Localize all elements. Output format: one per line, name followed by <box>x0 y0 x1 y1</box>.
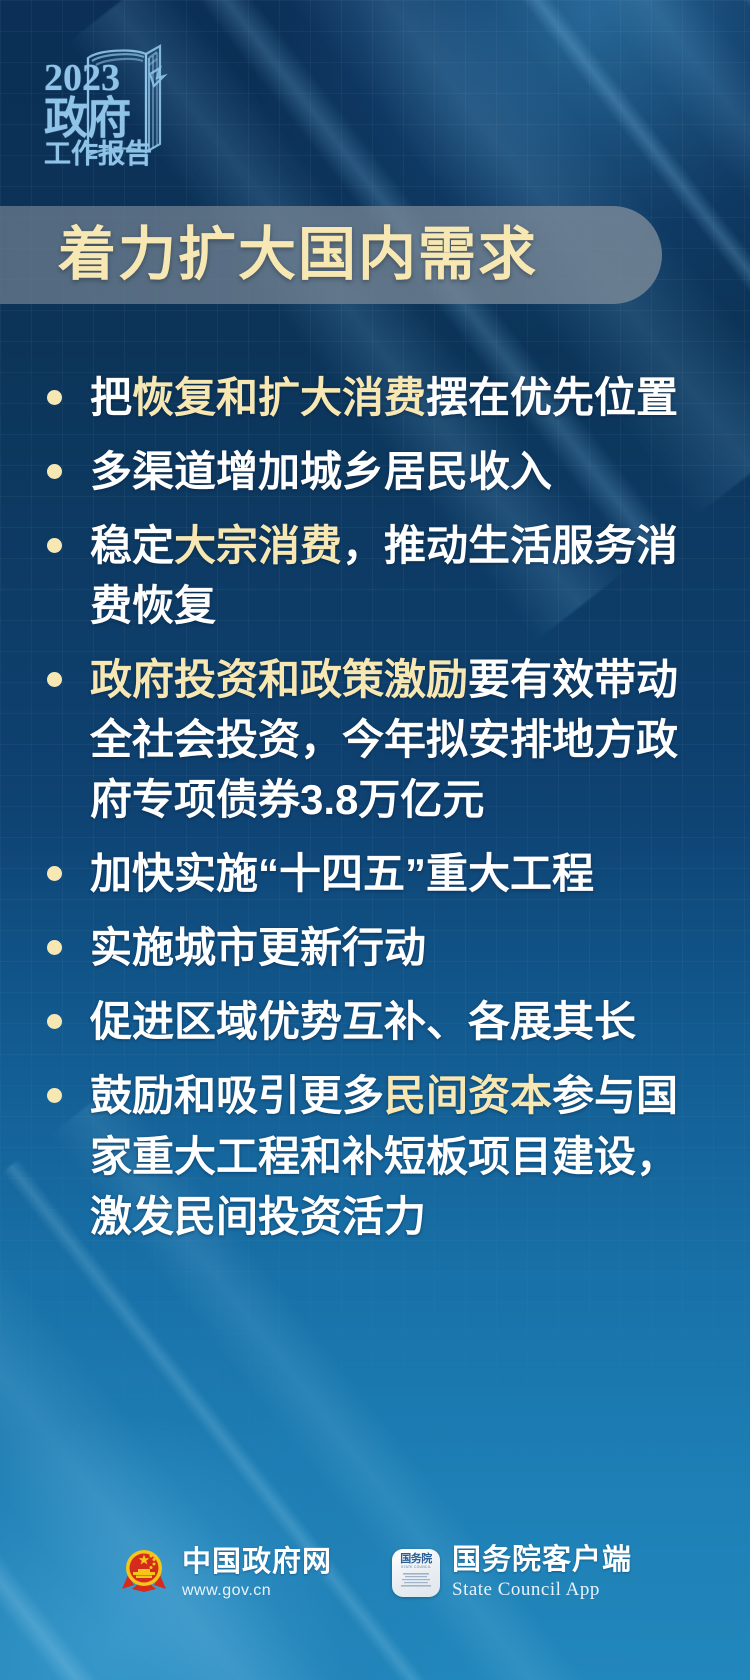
list-item: 加快实施“十四五”重大工程 <box>36 844 696 904</box>
plain-phrase: 加快实施“十四五”重大工程 <box>90 850 594 897</box>
plain-phrase: 鼓励和吸引更多 <box>90 1072 384 1119</box>
bullet-dot-icon <box>47 866 62 881</box>
app-icon-label-en: STATE COUNCIL <box>401 1566 431 1570</box>
list-item-text: 鼓励和吸引更多民间资本参与国家重大工程和补短板项目建设，激发民间投资活力 <box>90 1072 678 1239</box>
page-title: 着力扩大国内需求 <box>58 226 538 284</box>
highlighted-phrase: 政府投资和政策激励 <box>90 656 468 703</box>
footer-brands: 中国政府网 www.gov.cn 国务院 STATE COUNCIL <box>0 1545 750 1602</box>
list-item-text: 稳定大宗消费，推动生活服务消费恢复 <box>90 522 678 629</box>
state-council-app-english: State Council App <box>452 1579 632 1602</box>
list-item: 实施城市更新行动 <box>36 918 696 978</box>
bullet-dot-icon <box>47 940 62 955</box>
title-banner: 着力扩大国内需求 <box>0 206 662 304</box>
gate-icon <box>399 1572 433 1593</box>
national-emblem-icon <box>118 1545 170 1602</box>
list-item: 把恢复和扩大消费摆在优先位置 <box>36 368 696 428</box>
list-item-text: 加快实施“十四五”重大工程 <box>90 850 594 897</box>
highlighted-phrase: 民间资本 <box>384 1072 552 1119</box>
list-item: 多渠道增加城乡居民收入 <box>36 442 696 502</box>
bullet-dot-icon <box>47 1014 62 1029</box>
logo-title-line2: 工作报告 <box>44 142 152 168</box>
highlighted-phrase: 大宗消费 <box>174 522 342 569</box>
list-item: 政府投资和政策激励要有效带动全社会投资，今年拟安排地方政府专项债券3.8万亿元 <box>36 650 696 830</box>
plain-phrase: 稳定 <box>90 522 174 569</box>
bullet-dot-icon <box>47 390 62 405</box>
state-council-app-name: 国务院客户端 <box>452 1545 632 1575</box>
list-item-text: 政府投资和政策激励要有效带动全社会投资，今年拟安排地方政府专项债券3.8万亿元 <box>90 656 678 823</box>
poster: 2023 政府 工作报告 着力扩大国内需求 把恢复和扩大消费摆在优先位置多渠道增… <box>0 0 750 1680</box>
plain-phrase: 多渠道增加城乡居民收入 <box>90 448 552 495</box>
bullet-dot-icon <box>47 464 62 479</box>
list-item: 促进区域优势互补、各展其长 <box>36 992 696 1052</box>
bottom-left-glow <box>0 1320 440 1680</box>
list-item-text: 多渠道增加城乡居民收入 <box>90 448 552 495</box>
list-item-text: 促进区域优势互补、各展其长 <box>90 998 636 1045</box>
plain-phrase: 实施城市更新行动 <box>90 924 426 971</box>
state-council-app-icon: 国务院 STATE COUNCIL <box>392 1549 440 1597</box>
list-item: 鼓励和吸引更多民间资本参与国家重大工程和补短板项目建设，激发民间投资活力 <box>36 1066 696 1246</box>
gov-site-name: 中国政府网 <box>182 1547 332 1577</box>
list-item: 稳定大宗消费，推动生活服务消费恢复 <box>36 516 696 636</box>
report-logo: 2023 政府 工作报告 <box>36 38 216 188</box>
gov-site-url: www.gov.cn <box>182 1581 332 1600</box>
bullet-dot-icon <box>47 1088 62 1103</box>
list-item-text: 把恢复和扩大消费摆在优先位置 <box>90 374 678 421</box>
logo-title-line1: 政府 <box>44 98 152 140</box>
policy-bullet-list: 把恢复和扩大消费摆在优先位置多渠道增加城乡居民收入稳定大宗消费，推动生活服务消费… <box>36 368 696 1261</box>
highlighted-phrase: 恢复和扩大消费 <box>132 374 426 421</box>
app-icon-label-cn: 国务院 <box>400 1554 432 1565</box>
state-council-app-brand[interactable]: 国务院 STATE COUNCIL 国务院客户端 <box>392 1545 632 1602</box>
logo-year: 2023 <box>44 60 152 96</box>
gov-site-brand[interactable]: 中国政府网 www.gov.cn <box>118 1545 332 1602</box>
plain-phrase: 把 <box>90 374 132 421</box>
plain-phrase: 促进区域优势互补、各展其长 <box>90 998 636 1045</box>
bullet-dot-icon <box>47 672 62 687</box>
bullet-dot-icon <box>47 538 62 553</box>
plain-phrase: 摆在优先位置 <box>426 374 678 421</box>
list-item-text: 实施城市更新行动 <box>90 924 426 971</box>
